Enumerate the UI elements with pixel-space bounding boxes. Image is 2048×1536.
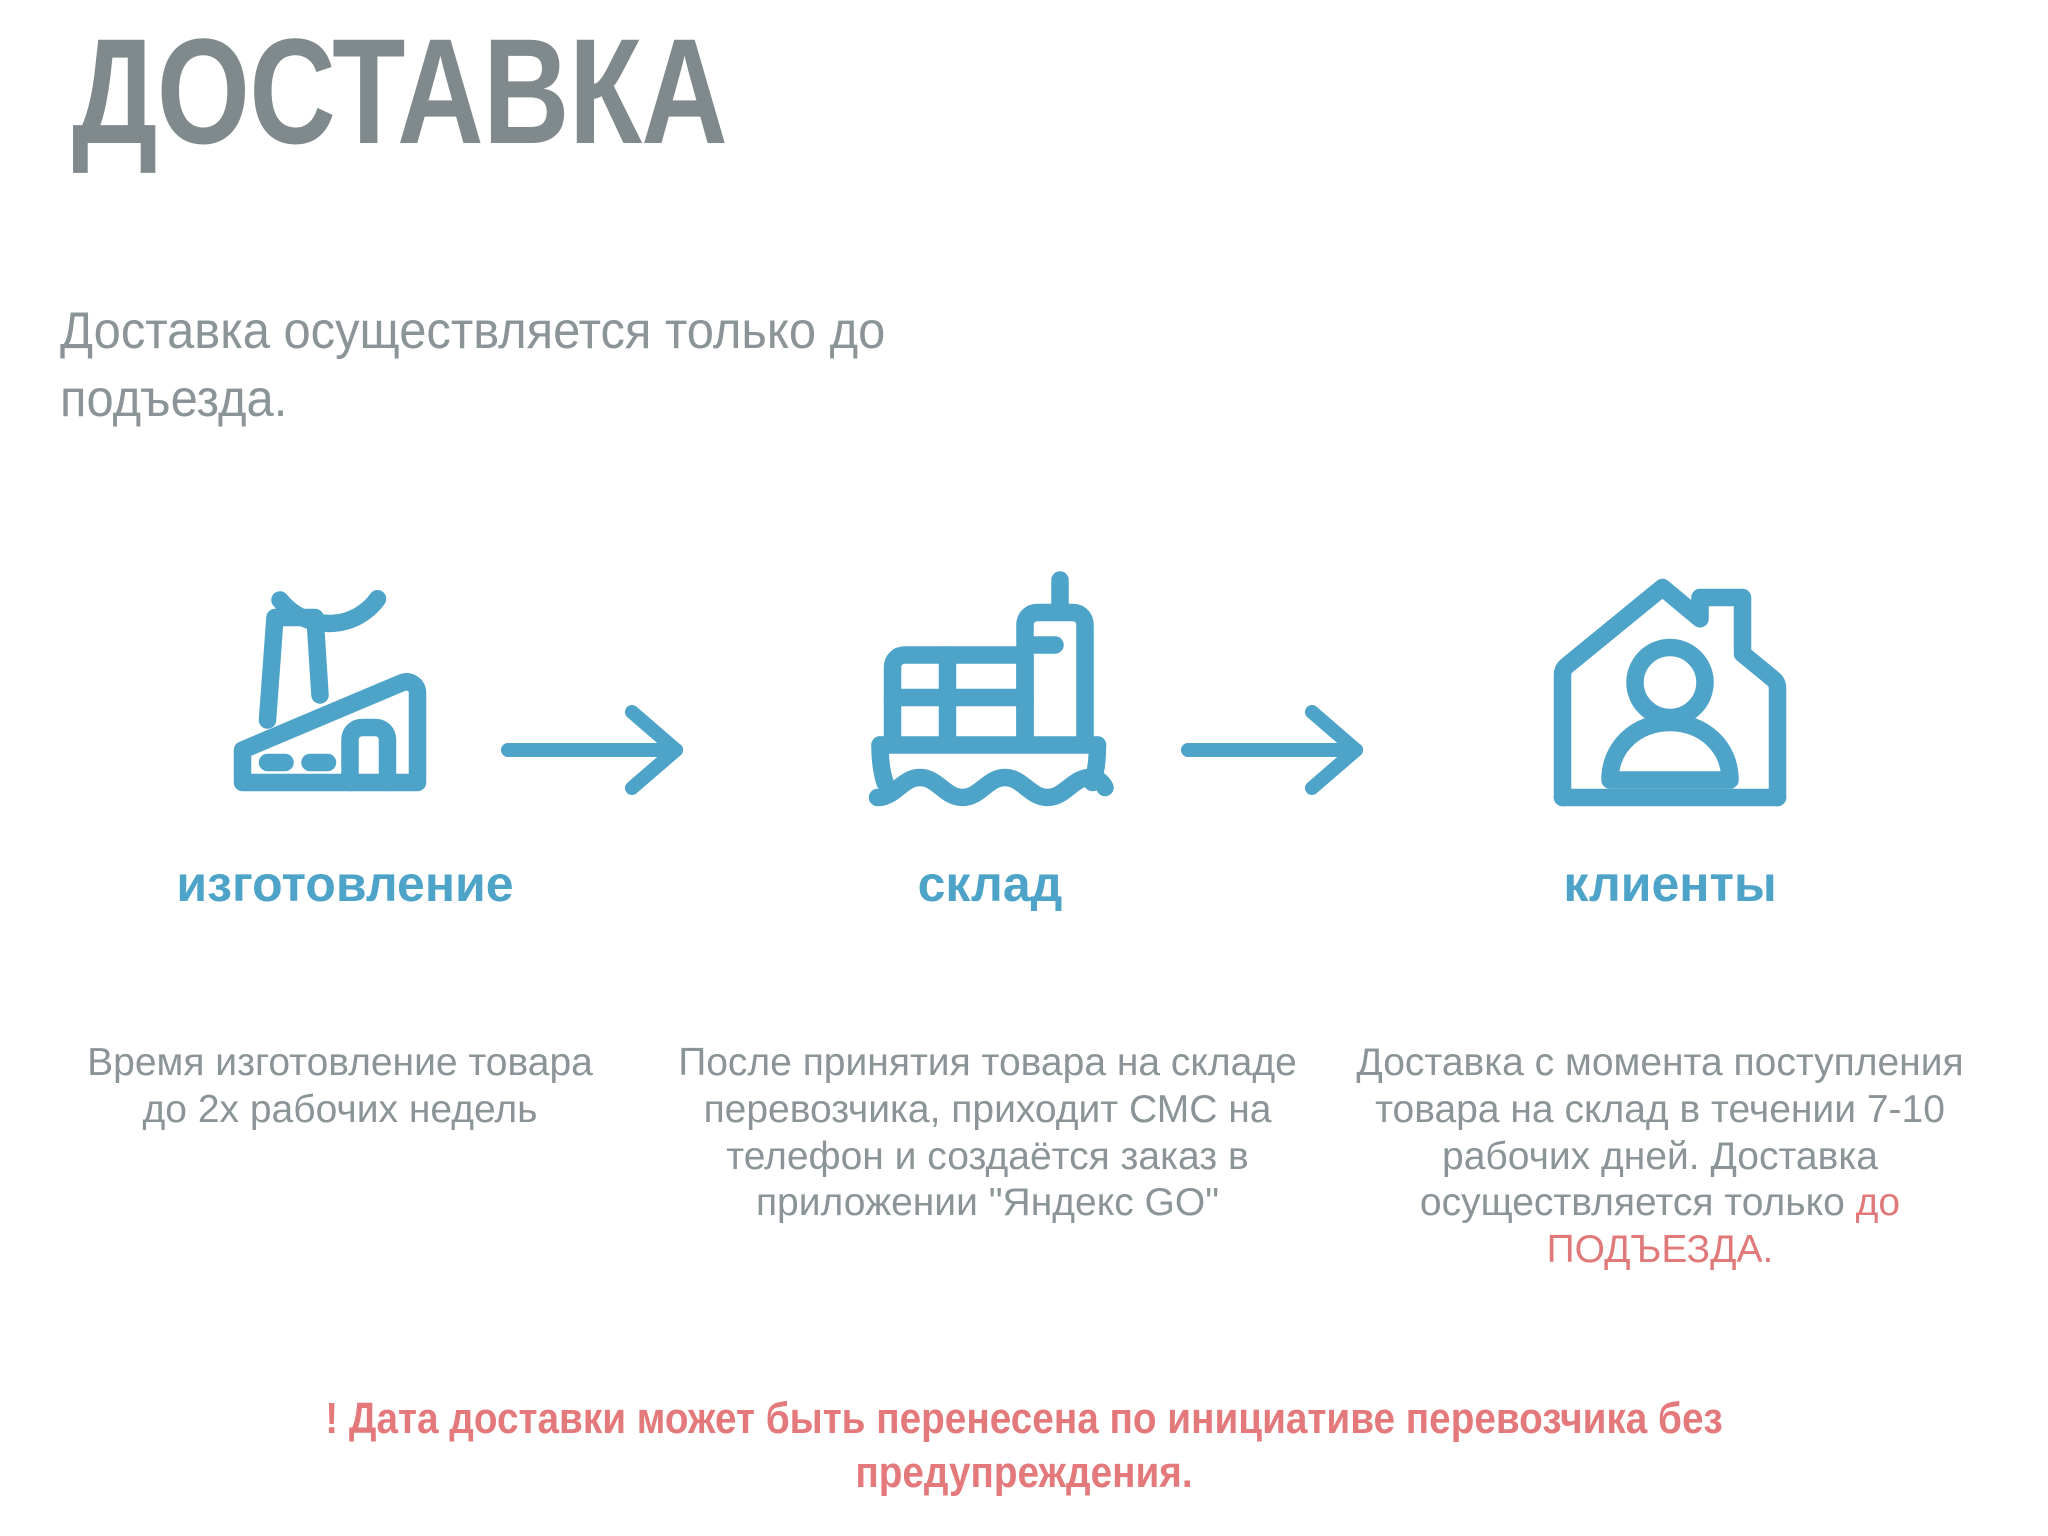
footer-warning-note: ! Дата доставки может быть перенесена по…: [228, 1392, 1819, 1499]
stage-label-clients: клиенты: [1460, 859, 1880, 909]
delivery-infographic-slide: ДОСТАВКА Доставка осуществляется только …: [0, 0, 2048, 1536]
stage-clients: клиенты: [1460, 545, 1880, 909]
factory-icon: [135, 545, 555, 835]
stage-description-clients: Доставка с момента поступления товара на…: [1330, 1040, 1990, 1274]
arrow-right-icon-2: [1180, 700, 1380, 805]
stage-description-manufacturing: Время изготовление товара до 2х рабочих …: [75, 1040, 605, 1134]
stage-label-manufacturing: изготовление: [135, 859, 555, 909]
stage-description-warehouse: После принятия товара на складе перевозч…: [665, 1040, 1310, 1227]
stage-label-warehouse: склад: [780, 859, 1200, 909]
page-subtitle: Доставка осуществляется только до подъез…: [60, 298, 1000, 433]
cargo-ship-icon: [780, 545, 1200, 835]
stage-warehouse: склад: [780, 545, 1200, 909]
house-client-icon: [1460, 545, 1880, 835]
stage-manufacturing: изготовление: [135, 545, 555, 909]
arrow-right-icon-1: [500, 700, 700, 805]
page-title: ДОСТАВКА: [72, 16, 727, 166]
